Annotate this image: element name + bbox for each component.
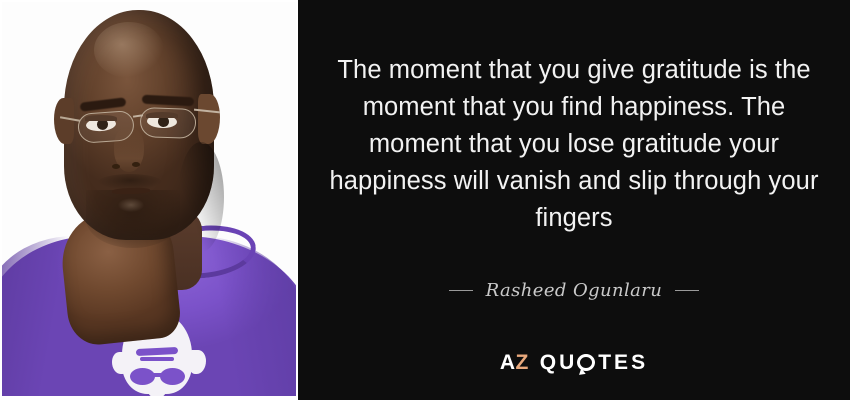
azquotes-logo[interactable]: A Z QU TES (298, 352, 850, 373)
quote-card: The moment that you give gratitude is th… (0, 0, 850, 400)
nostril-left (112, 164, 120, 169)
scalp-highlight (94, 22, 164, 78)
logo-text-qu: QU (540, 352, 578, 373)
nostril-right (132, 162, 140, 167)
logo-letter-z: Z (516, 352, 529, 373)
author-name: Rasheed Ogunlaru (486, 280, 663, 301)
jaw-shadow (178, 142, 224, 252)
attribution: Rasheed Ogunlaru (298, 280, 850, 301)
attribution-dash-left (449, 290, 473, 291)
portrait-image (2, 2, 296, 396)
speech-bubble-icon (577, 354, 595, 372)
quote-text: The moment that you give gratitude is th… (320, 52, 828, 237)
logo-text-tes: TES (598, 352, 648, 373)
chin-highlight (118, 198, 144, 212)
logo-letter-a: A (500, 352, 516, 373)
author-portrait-photo (0, 0, 298, 400)
attribution-dash-right (675, 290, 699, 291)
quote-panel: The moment that you give gratitude is th… (298, 0, 850, 400)
